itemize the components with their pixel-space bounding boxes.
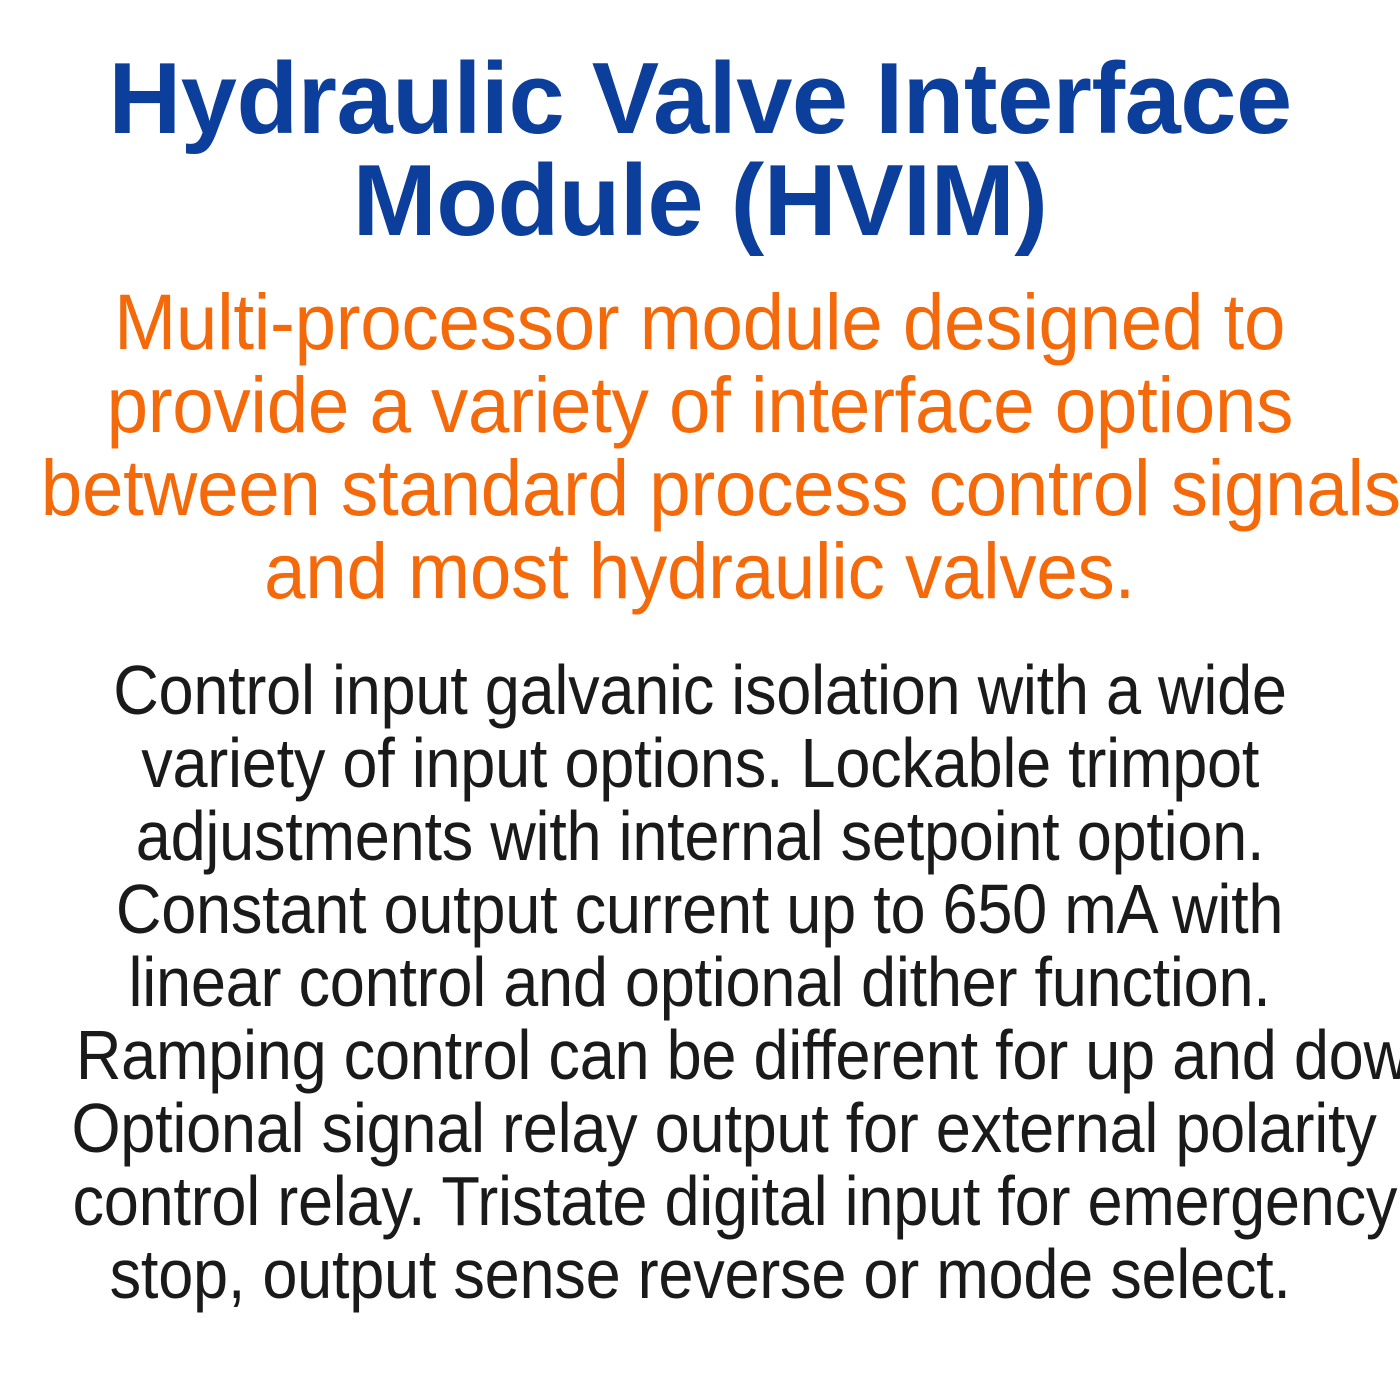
description-line-text: stop, output sense reverse or mode selec… xyxy=(109,1238,1290,1311)
title-line: Module (HVIM) xyxy=(0,150,1400,252)
description-line-text: variety of input options. Lockable trimp… xyxy=(141,727,1259,800)
title-line-text: Module (HVIM) xyxy=(353,150,1048,252)
description-line: adjustments with internal setpoint optio… xyxy=(0,800,1400,873)
subtitle-line: provide a variety of interface options xyxy=(0,363,1400,446)
product-description: Control input galvanic isolation with a … xyxy=(0,612,1400,1311)
subtitle-line: and most hydraulic valves. xyxy=(0,529,1400,612)
description-line-text: Ramping control can be different for up … xyxy=(76,1019,1400,1092)
description-line-text: Constant output current up to 650 mA wit… xyxy=(116,873,1283,946)
page-title: Hydraulic Valve Interface Module (HVIM) xyxy=(0,0,1400,252)
title-line: Hydraulic Valve Interface xyxy=(0,48,1400,150)
product-subtitle: Multi-processor module designed to provi… xyxy=(0,252,1400,612)
description-line: stop, output sense reverse or mode selec… xyxy=(0,1238,1400,1311)
description-line-text: linear control and optional dither funct… xyxy=(129,946,1271,1019)
description-line: Control input galvanic isolation with a … xyxy=(0,654,1400,727)
subtitle-line-text: and most hydraulic valves. xyxy=(265,529,1136,612)
description-line: variety of input options. Lockable trimp… xyxy=(0,727,1400,800)
description-line: linear control and optional dither funct… xyxy=(0,946,1400,1019)
description-line-text: control relay. Tristate digital input fo… xyxy=(73,1165,1398,1238)
subtitle-line-text: provide a variety of interface options xyxy=(107,363,1294,446)
description-line-text: adjustments with internal setpoint optio… xyxy=(136,800,1264,873)
description-line: control relay. Tristate digital input fo… xyxy=(0,1165,1400,1238)
description-line: Optional signal relay output for externa… xyxy=(0,1092,1400,1165)
description-line: Constant output current up to 650 mA wit… xyxy=(0,873,1400,946)
subtitle-line-text: between standard process control signals xyxy=(41,446,1400,529)
product-info-card: Hydraulic Valve Interface Module (HVIM) … xyxy=(0,0,1400,1400)
title-line-text: Hydraulic Valve Interface xyxy=(108,48,1291,150)
subtitle-line: between standard process control signals xyxy=(0,446,1400,529)
description-line: Ramping control can be different for up … xyxy=(0,1019,1400,1092)
subtitle-line: Multi-processor module designed to xyxy=(0,280,1400,363)
subtitle-line-text: Multi-processor module designed to xyxy=(114,280,1285,363)
description-line-text: Optional signal relay output for externa… xyxy=(71,1092,1376,1165)
description-line-text: Control input galvanic isolation with a … xyxy=(113,654,1286,727)
